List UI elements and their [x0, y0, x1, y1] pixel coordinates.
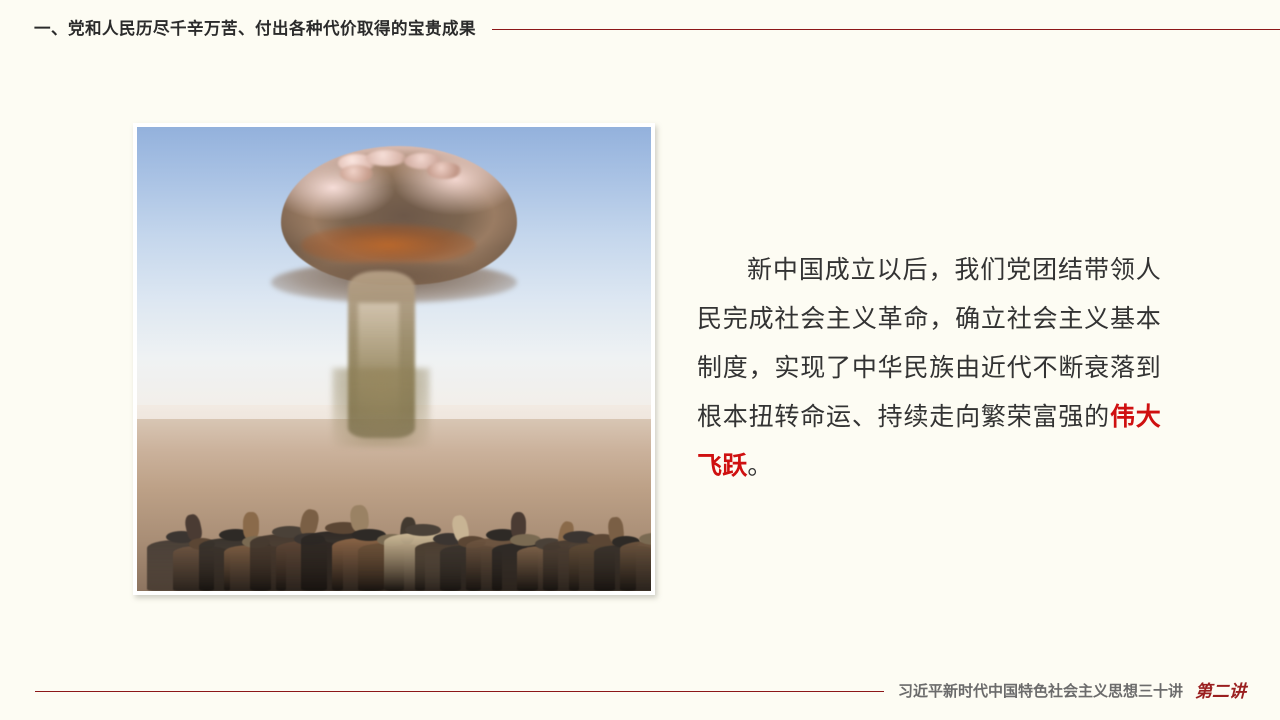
paragraph-text-tail: 。 [747, 452, 772, 480]
photo-frame [133, 123, 655, 595]
crowd-person [620, 541, 651, 591]
cloud-fireball-glow [301, 224, 476, 266]
cloud-lobe [427, 162, 460, 179]
paragraph-text-lead: 新中国成立以后，我们党团结带领人民完成社会主义革命，确立社会主义基本制度，实现了… [697, 256, 1161, 431]
footer-chapter-label: 第二讲 [1195, 683, 1246, 700]
slide-canvas: 一、党和人民历尽千辛万苦、付出各种代价取得的宝贵成果 新中国成立以后，我们党团结… [0, 0, 1280, 720]
footer-rule [35, 691, 884, 692]
body-paragraph: 新中国成立以后，我们党团结带领人民完成社会主义革命，确立社会主义基本制度，实现了… [697, 246, 1161, 491]
footer-course-title: 习近平新时代中国特色社会主义思想三十讲 [898, 684, 1183, 699]
historical-photo [137, 127, 651, 591]
page-title: 一、党和人民历尽千辛万苦、付出各种代价取得的宝贵成果 [34, 21, 476, 38]
header-rule [492, 29, 1280, 30]
cloud-lobe [340, 165, 373, 182]
slide-footer: 习近平新时代中国特色社会主义思想三十讲 第二讲 [0, 676, 1280, 706]
cloud-lobe [366, 150, 406, 167]
cheering-crowd [137, 419, 651, 591]
slide-header: 一、党和人民历尽千辛万苦、付出各种代价取得的宝贵成果 [0, 14, 1280, 44]
